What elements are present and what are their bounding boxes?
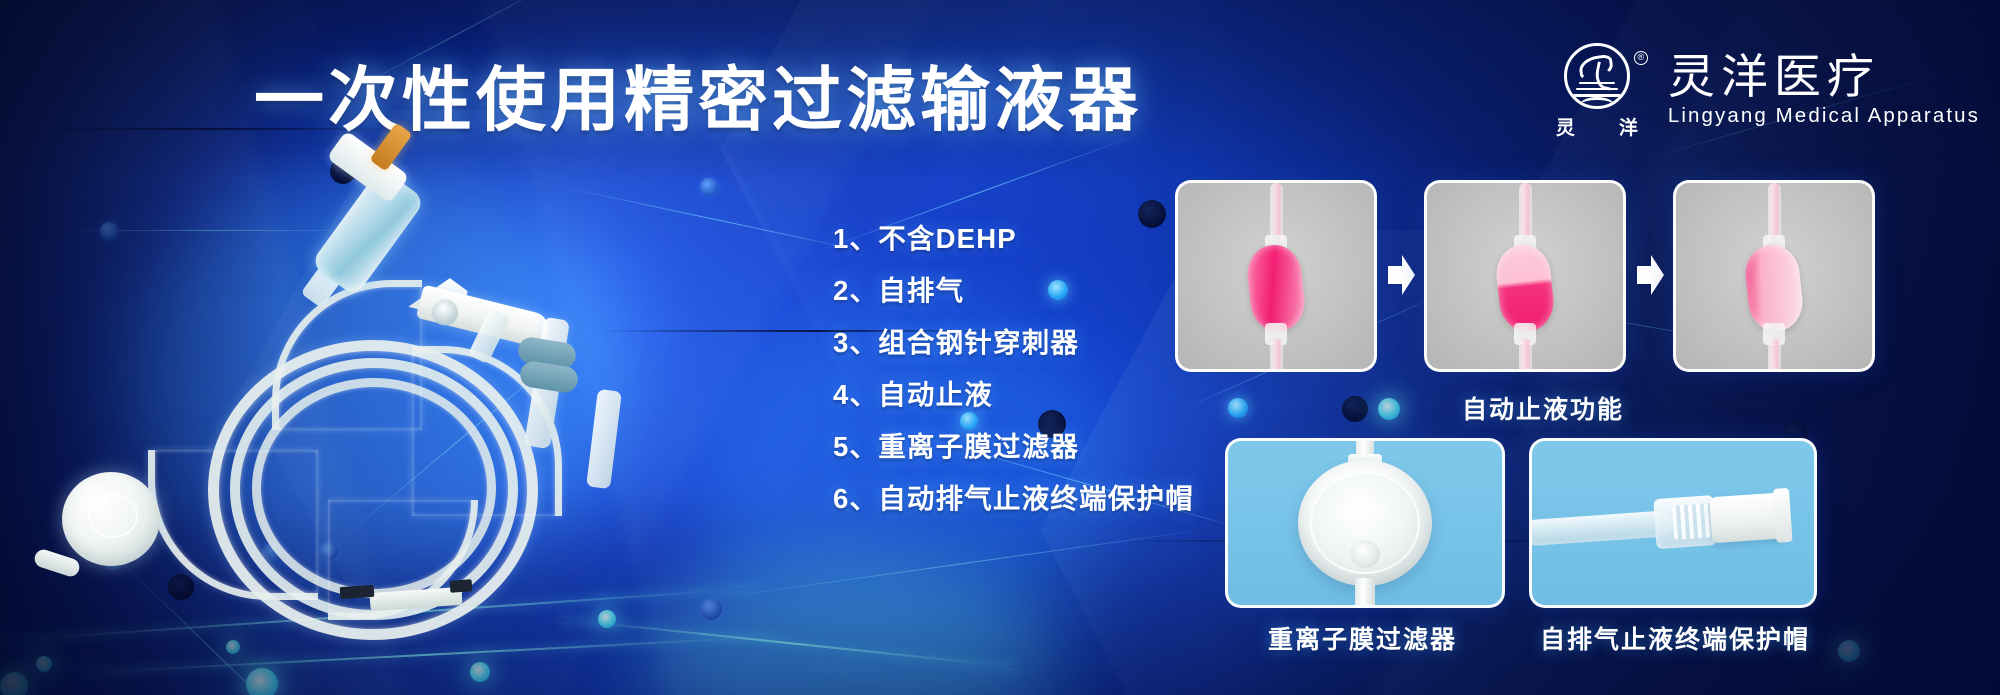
emblem-bird-tail-icon [1592,61,1615,90]
feature-item-4: 4、自动止液 [833,378,1253,430]
brand-emblem-icon: ® 灵 洋 [1556,43,1648,137]
brand-text-block: 灵洋医疗 Lingyang Medical Apparatus [1668,52,1980,127]
emblem-circle-icon [1564,43,1630,109]
tubing-segment-upper [272,280,422,430]
product-card-filter [1225,438,1505,608]
emblem-brand-chars: 灵 洋 [1556,113,1638,140]
tubing-clip [340,585,375,599]
emblem-wave-icon [1579,82,1615,84]
connector-cap-end [1773,488,1793,543]
network-node [470,662,490,682]
photo-card-step-1 [1175,180,1377,372]
emblem-char-left: 灵 [1556,113,1575,140]
network-node [36,656,52,672]
filter-chamber-half [1494,242,1557,333]
tubing-segment-left [148,450,318,600]
step-arrow-2-icon [1635,252,1665,298]
step-arrow-1-icon [1386,252,1416,298]
brand-name-cn: 灵洋医疗 [1668,52,1980,101]
photo-card-step-3 [1673,180,1875,372]
filter-outlet-port [1355,578,1375,608]
filter-chamber-full [1245,242,1308,333]
filter-outlet-stem [32,547,81,578]
product-card-connector [1529,438,1817,608]
network-node [1342,396,1368,422]
registered-trademark-icon: ® [1634,51,1648,65]
photo-strip-caption: 自动止液功能 [1462,390,1624,426]
tubing-clip [450,579,473,593]
tube-bottom [1519,339,1532,372]
tube-bottom [1270,339,1283,372]
connector-tube [1529,510,1674,546]
product-hero-image [40,150,800,650]
banner-header: 一次性使用精密过滤输液器 ® 灵 洋 灵洋医疗 Lin [0,0,2000,150]
heavy-ion-membrane-filter-image [1270,438,1460,608]
page-title: 一次性使用精密过滤输液器 [254,44,1142,145]
emblem-char-right: 洋 [1619,113,1638,140]
terminal-protective-cap-image [1529,470,1817,577]
filter-outlet-nub [1350,540,1380,568]
brand-name-en: Lingyang Medical Apparatus [1668,104,1980,128]
feature-item-5: 5、重离子膜过滤器 [833,430,1253,482]
emblem-hill-icon [1580,97,1614,109]
brand-logo: ® 灵 洋 灵洋医疗 Lingyang Medical Apparatus [1556,42,1980,138]
photo-card-step-2 [1424,180,1626,372]
network-node [246,668,278,695]
network-node [0,672,28,695]
tube-bottom [1768,339,1781,372]
network-node [1378,398,1400,420]
network-node [1838,640,1860,662]
product-card-caption-filter: 重离子膜过滤器 [1268,620,1457,656]
needle-cap [586,389,622,489]
emblem-wave-icon [1576,88,1618,91]
feature-item-6: 6、自动排气止液终端保护帽 [833,482,1253,534]
round-filter-component [62,472,160,566]
product-banner: 一次性使用精密过滤输液器 ® 灵 洋 灵洋医疗 Lin [0,0,2000,695]
filter-chamber-empty [1743,242,1806,333]
product-card-caption-connector: 自排气止液终端保护帽 [1540,620,1810,656]
